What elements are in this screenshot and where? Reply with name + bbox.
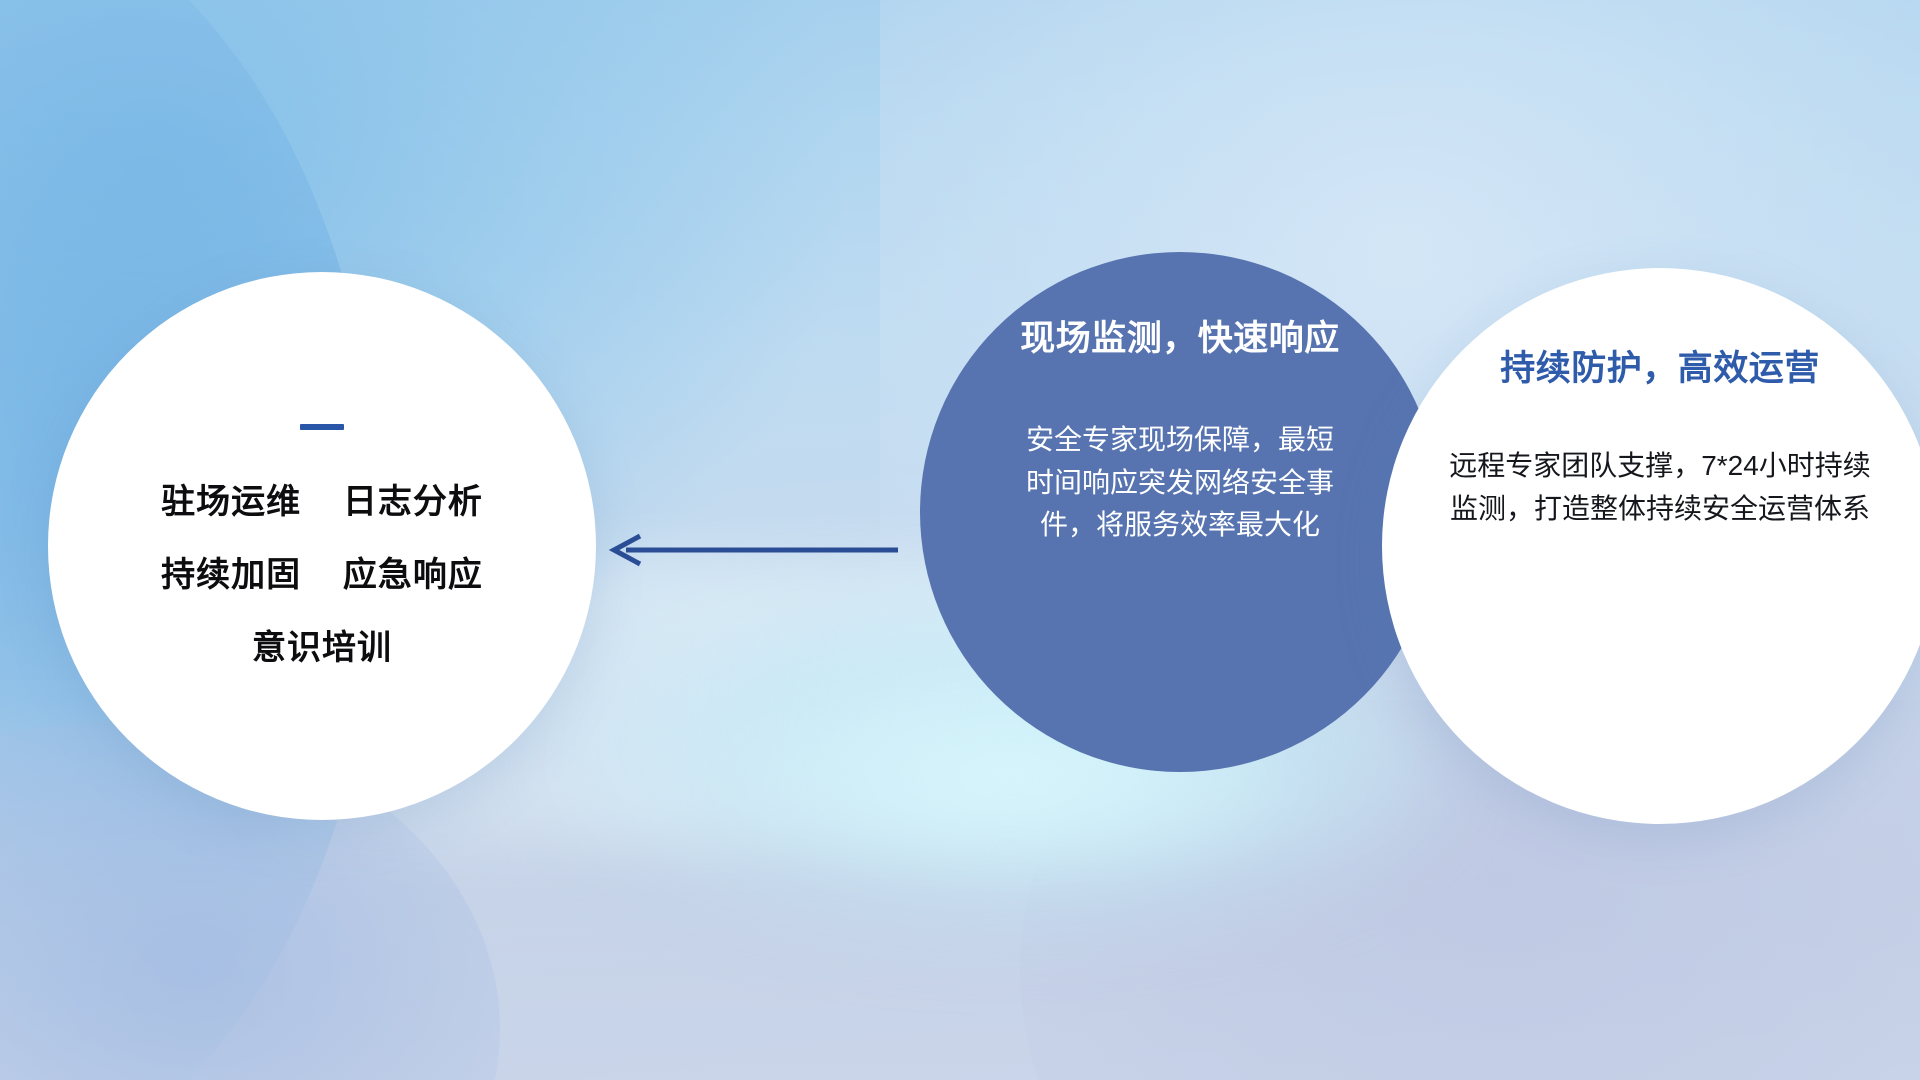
- right-card-content: 持续防护，高效运营 远程专家团队支撑，7*24小时持续监测，打造整体持续安全运营…: [1382, 268, 1920, 824]
- right-card-body: 远程专家团队支撑，7*24小时持续监测，打造整体持续安全运营体系: [1440, 445, 1880, 530]
- middle-card-title: 现场监测，快速响应: [1020, 310, 1340, 361]
- middle-card-body: 安全专家现场保障，最短时间响应突发网络安全事件，将服务效率最大化: [1020, 419, 1340, 547]
- arrow-middle-to-left: [600, 528, 900, 572]
- left-card-line: 意识培训: [161, 620, 483, 669]
- left-card-divider: [300, 424, 344, 430]
- middle-card-content: 现场监测，快速响应 安全专家现场保障，最短时间响应突发网络安全事件，将服务效率最…: [920, 252, 1440, 772]
- left-card-line: 驻场运维 日志分析: [161, 474, 483, 523]
- left-arrow-icon: [600, 528, 900, 572]
- left-card-content: 驻场运维 日志分析 持续加固 应急响应 意识培训: [48, 272, 596, 820]
- left-card-line: 持续加固 应急响应: [161, 547, 483, 596]
- right-card-title: 持续防护，高效运营: [1500, 340, 1820, 391]
- left-card-tag-list: 驻场运维 日志分析 持续加固 应急响应 意识培训: [161, 474, 483, 669]
- diagram-stage: 现场监测，快速响应 安全专家现场保障，最短时间响应突发网络安全事件，将服务效率最…: [0, 0, 1920, 1080]
